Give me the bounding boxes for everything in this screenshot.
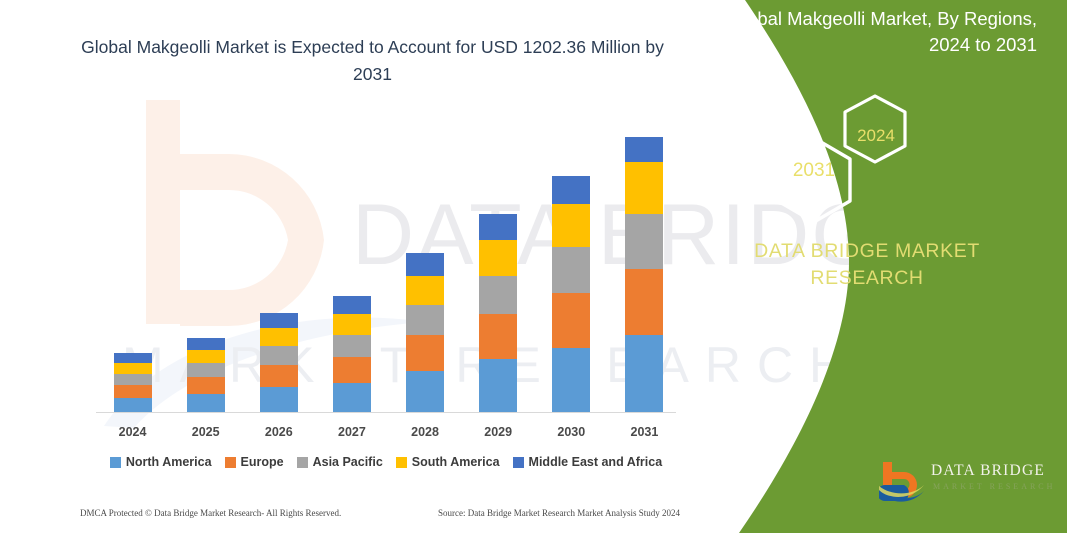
legend-label: Europe: [241, 455, 284, 469]
bar-segment-south-america: [187, 350, 225, 363]
x-tick-2026: 2026: [246, 425, 312, 439]
legend-label: Middle East and Africa: [529, 455, 663, 469]
bar-segment-europe: [333, 357, 371, 383]
bar-segment-south-america: [479, 240, 517, 276]
bar-segment-europe: [114, 385, 152, 398]
x-tick-2028: 2028: [392, 425, 458, 439]
legend-swatch-icon: [513, 457, 524, 468]
brand-panel: Global Makgeolli Market, By Regions, 202…: [667, 0, 1067, 533]
bar-segment-asia-pacific: [114, 374, 152, 385]
bar-segment-asia-pacific: [479, 276, 517, 314]
bar-2031: [625, 137, 663, 413]
bar-2025: [187, 338, 225, 413]
bar-segment-north-america: [625, 335, 663, 413]
bar-segment-middle-east-and-africa: [406, 253, 444, 276]
bar-segment-middle-east-and-africa: [260, 313, 298, 328]
brand-name: DATA BRIDGE MARKET RESEARCH: [697, 238, 1037, 292]
hexagon-2024-label: 2024: [845, 126, 907, 146]
bar-segment-middle-east-and-africa: [187, 338, 225, 350]
footer-copyright: DMCA Protected © Data Bridge Market Rese…: [80, 508, 341, 518]
legend-label: Asia Pacific: [313, 455, 383, 469]
bar-2029: [479, 214, 517, 413]
bar-2024: [114, 353, 152, 413]
bar-segment-asia-pacific: [187, 363, 225, 377]
logo-wordmark: DATA BRIDGE: [931, 462, 1045, 480]
legend-item-south-america[interactable]: South America: [396, 455, 500, 469]
bar-segment-north-america: [187, 394, 225, 413]
bar-2030: [552, 176, 590, 413]
bar-segment-europe: [552, 293, 590, 348]
x-tick-2029: 2029: [465, 425, 531, 439]
legend-item-north-america[interactable]: North America: [110, 455, 212, 469]
bar-segment-europe: [187, 377, 225, 394]
legend-swatch-icon: [225, 457, 236, 468]
legend-swatch-icon: [110, 457, 121, 468]
bar-segment-south-america: [552, 204, 590, 247]
bar-segment-south-america: [114, 363, 152, 374]
bar-segment-asia-pacific: [625, 214, 663, 269]
bar-segment-north-america: [552, 348, 590, 413]
bar-segment-south-america: [260, 328, 298, 346]
stacked-bar-chart: [96, 100, 681, 413]
bar-segment-north-america: [114, 398, 152, 413]
legend-swatch-icon: [396, 457, 407, 468]
bar-2026: [260, 313, 298, 413]
bar-segment-north-america: [479, 359, 517, 413]
bar-segment-middle-east-and-africa: [625, 137, 663, 162]
bar-segment-europe: [625, 269, 663, 335]
footer-source: Source: Data Bridge Market Research Mark…: [438, 508, 680, 518]
hexagon-2031-label: 2031: [779, 160, 849, 182]
bar-segment-south-america: [625, 162, 663, 214]
axis-baseline: [96, 412, 676, 413]
bar-segment-europe: [406, 335, 444, 371]
bar-segment-asia-pacific: [260, 346, 298, 365]
bar-2028: [406, 253, 444, 413]
bar-segment-south-america: [406, 276, 444, 305]
company-logo: DATA BRIDGE MARKET RESEARCH: [879, 458, 1059, 504]
logo-tagline: MARKET RESEARCH: [933, 482, 1055, 491]
bar-segment-south-america: [333, 314, 371, 335]
legend-label: North America: [126, 455, 212, 469]
legend-item-middle-east-and-africa[interactable]: Middle East and Africa: [513, 455, 663, 469]
x-tick-2024: 2024: [100, 425, 166, 439]
bar-segment-middle-east-and-africa: [479, 214, 517, 240]
bar-segment-europe: [260, 365, 298, 387]
bar-segment-north-america: [406, 371, 444, 413]
legend-item-asia-pacific[interactable]: Asia Pacific: [297, 455, 383, 469]
data-bridge-logo-icon: [879, 458, 925, 502]
footer: DMCA Protected © Data Bridge Market Rese…: [80, 508, 680, 518]
legend-swatch-icon: [297, 457, 308, 468]
bar-segment-asia-pacific: [333, 335, 371, 357]
bar-segment-middle-east-and-africa: [333, 296, 371, 314]
x-tick-2030: 2030: [538, 425, 604, 439]
x-tick-2025: 2025: [173, 425, 239, 439]
bar-segment-north-america: [333, 383, 371, 413]
bar-segment-europe: [479, 314, 517, 359]
chart-legend: North AmericaEuropeAsia PacificSouth Ame…: [96, 455, 676, 469]
x-tick-2027: 2027: [319, 425, 385, 439]
bar-segment-middle-east-and-africa: [114, 353, 152, 363]
legend-item-europe[interactable]: Europe: [225, 455, 284, 469]
bar-segment-asia-pacific: [406, 305, 444, 335]
bar-segment-asia-pacific: [552, 247, 590, 293]
bar-segment-middle-east-and-africa: [552, 176, 590, 204]
bar-2027: [333, 296, 371, 413]
bar-segment-north-america: [260, 387, 298, 413]
legend-label: South America: [412, 455, 500, 469]
infographic-root: DATA BRIDGE MARKET RESEARCH Global Makge…: [0, 0, 1067, 533]
x-axis-labels: 20242025202620272028202920302031: [96, 420, 681, 442]
page-title: Global Makgeolli Market is Expected to A…: [75, 34, 670, 88]
